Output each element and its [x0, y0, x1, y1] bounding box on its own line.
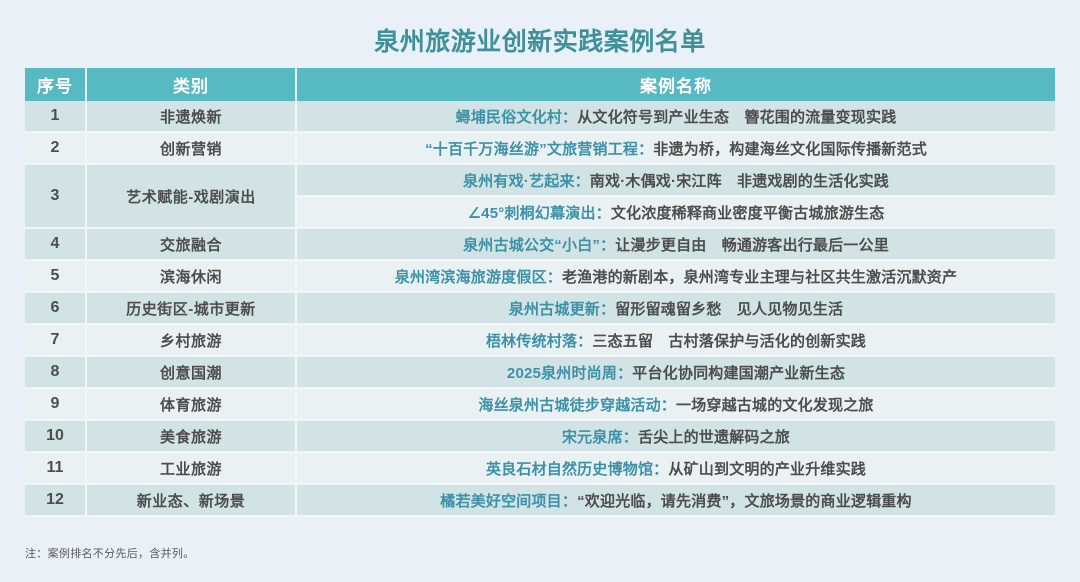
case-name-description: 从文化符号到产业生态 簪花围的流量变现实践 — [577, 109, 896, 126]
case-table-container: 序号 类别 案例名称 1非遗焕新蟳埔民俗文化村：从文化符号到产业生态 簪花围的流… — [25, 68, 1055, 517]
table-row: 6历史街区-城市更新泉州古城更新：留形留魂留乡愁 见人见物见生活 — [25, 293, 1055, 325]
page-title: 泉州旅游业创新实践案例名单 — [0, 26, 1080, 58]
table-row: 11工业旅游英良石材自然历史博物馆：从矿山到文明的产业升维实践 — [25, 453, 1055, 485]
case-name-description: 文化浓度稀释商业密度平衡古城旅游生态 — [611, 205, 885, 222]
table-row: 5滨海休闲泉州湾滨海旅游度假区：老渔港的新剧本，泉州湾专业主理与社区共生激活沉默… — [25, 261, 1055, 293]
cell-index: 3 — [25, 165, 87, 229]
case-name-description: 让漫步更自由 畅通游客出行最后一公里 — [615, 237, 889, 254]
cell-index: 1 — [25, 101, 87, 133]
cell-category: 体育旅游 — [87, 389, 297, 421]
table-row: 12新业态、新场景橘若美好空间项目：“欢迎光临，请先消费”，文旅场景的商业逻辑重… — [25, 485, 1055, 517]
table-body: 1非遗焕新蟳埔民俗文化村：从文化符号到产业生态 簪花围的流量变现实践2创新营销“… — [25, 101, 1055, 517]
cell-case-name: ∠45°刺桐幻幕演出：文化浓度稀释商业密度平衡古城旅游生态 — [297, 197, 1055, 229]
case-name-highlight: 泉州有戏·艺起来： — [463, 173, 590, 190]
table-row: 1非遗焕新蟳埔民俗文化村：从文化符号到产业生态 簪花围的流量变现实践 — [25, 101, 1055, 133]
cell-index: 10 — [25, 421, 87, 453]
footnote: 注：案例排名不分先后，含并列。 — [25, 545, 195, 561]
case-name-highlight: 橘若美好空间项目： — [440, 493, 577, 510]
case-name-highlight: ∠45°刺桐幻幕演出： — [468, 205, 611, 222]
cell-case-name: 泉州古城更新：留形留魂留乡愁 见人见物见生活 — [297, 293, 1055, 325]
case-name-description: 三态五留 古村落保护与活化的创新实践 — [592, 333, 866, 350]
cell-category: 非遗焕新 — [87, 101, 297, 133]
cell-category: 创意国潮 — [87, 357, 297, 389]
case-name-highlight: 泉州古城公交“小白”： — [463, 237, 615, 254]
case-name-description: 舌尖上的世遗解码之旅 — [638, 429, 790, 446]
case-name-highlight: 海丝泉州古城徒步穿越活动： — [478, 397, 676, 414]
cell-category: 乡村旅游 — [87, 325, 297, 357]
cell-case-name: 蟳埔民俗文化村：从文化符号到产业生态 簪花围的流量变现实践 — [297, 101, 1055, 133]
cell-case-name: 2025泉州时尚周：平台化协同构建国潮产业新生态 — [297, 357, 1055, 389]
cell-index: 4 — [25, 229, 87, 261]
cell-case-name: 橘若美好空间项目：“欢迎光临，请先消费”，文旅场景的商业逻辑重构 — [297, 485, 1055, 517]
case-table: 序号 类别 案例名称 1非遗焕新蟳埔民俗文化村：从文化符号到产业生态 簪花围的流… — [25, 68, 1055, 517]
table-row: 10美食旅游宋元泉席：舌尖上的世遗解码之旅 — [25, 421, 1055, 453]
cell-case-name: 泉州湾滨海旅游度假区：老渔港的新剧本，泉州湾专业主理与社区共生激活沉默资产 — [297, 261, 1055, 293]
cell-category: 交旅融合 — [87, 229, 297, 261]
case-name-description: 一场穿越古城的文化发现之旅 — [676, 397, 874, 414]
cell-case-name: 泉州古城公交“小白”：让漫步更自由 畅通游客出行最后一公里 — [297, 229, 1055, 261]
cell-case-name: 英良石材自然历史博物馆：从矿山到文明的产业升维实践 — [297, 453, 1055, 485]
column-header-index: 序号 — [25, 68, 87, 101]
case-name-highlight: 蟳埔民俗文化村： — [456, 109, 578, 126]
cell-index: 12 — [25, 485, 87, 517]
cell-case-name: 梧林传统村落：三态五留 古村落保护与活化的创新实践 — [297, 325, 1055, 357]
cell-index: 2 — [25, 133, 87, 165]
column-header-category: 类别 — [87, 68, 297, 101]
cell-case-name: 宋元泉席：舌尖上的世遗解码之旅 — [297, 421, 1055, 453]
cell-case-name: “十百千万海丝游”文旅营销工程：非遗为桥，构建海丝文化国际传播新范式 — [297, 133, 1055, 165]
case-name-highlight: 英良石材自然历史博物馆： — [486, 461, 668, 478]
cell-category: 新业态、新场景 — [87, 485, 297, 517]
case-name-highlight: 泉州古城更新： — [509, 301, 615, 318]
case-name-highlight: 泉州湾滨海旅游度假区： — [395, 269, 562, 286]
table-row: 8创意国潮2025泉州时尚周：平台化协同构建国潮产业新生态 — [25, 357, 1055, 389]
cell-case-name: 泉州有戏·艺起来：南戏·木偶戏·宋江阵 非遗戏剧的生活化实践 — [297, 165, 1055, 197]
cell-category: 历史街区-城市更新 — [87, 293, 297, 325]
cell-category: 滨海休闲 — [87, 261, 297, 293]
cell-category: 艺术赋能-戏剧演出 — [87, 165, 297, 229]
case-name-highlight: 宋元泉席： — [562, 429, 638, 446]
table-row: 2创新营销“十百千万海丝游”文旅营销工程：非遗为桥，构建海丝文化国际传播新范式 — [25, 133, 1055, 165]
cell-index: 7 — [25, 325, 87, 357]
column-header-case-name: 案例名称 — [297, 68, 1055, 101]
case-name-highlight: 梧林传统村落： — [486, 333, 592, 350]
cell-category: 美食旅游 — [87, 421, 297, 453]
case-name-description: “欢迎光临，请先消费”，文旅场景的商业逻辑重构 — [577, 493, 912, 510]
table-header-row: 序号 类别 案例名称 — [25, 68, 1055, 101]
case-name-description: 老渔港的新剧本，泉州湾专业主理与社区共生激活沉默资产 — [562, 269, 957, 286]
case-name-description: 非遗为桥，构建海丝文化国际传播新范式 — [653, 141, 927, 158]
case-name-description: 从矿山到文明的产业升维实践 — [668, 461, 866, 478]
cell-index: 9 — [25, 389, 87, 421]
case-name-description: 南戏·木偶戏·宋江阵 非遗戏剧的生活化实践 — [590, 173, 889, 190]
cell-category: 创新营销 — [87, 133, 297, 165]
cell-index: 11 — [25, 453, 87, 485]
cell-case-name: 海丝泉州古城徒步穿越活动：一场穿越古城的文化发现之旅 — [297, 389, 1055, 421]
table-row: 9体育旅游海丝泉州古城徒步穿越活动：一场穿越古城的文化发现之旅 — [25, 389, 1055, 421]
table-row: 7乡村旅游梧林传统村落：三态五留 古村落保护与活化的创新实践 — [25, 325, 1055, 357]
case-name-highlight: 2025泉州时尚周： — [507, 365, 632, 382]
table-header: 序号 类别 案例名称 — [25, 68, 1055, 101]
case-name-description: 平台化协同构建国潮产业新生态 — [632, 365, 845, 382]
slide-page: 泉州旅游业创新实践案例名单 序号 类别 案例名称 1非遗焕新蟳埔民俗文化村：从文… — [0, 0, 1080, 582]
cell-category: 工业旅游 — [87, 453, 297, 485]
cell-index: 8 — [25, 357, 87, 389]
cell-index: 6 — [25, 293, 87, 325]
cell-index: 5 — [25, 261, 87, 293]
case-name-description: 留形留魂留乡愁 见人见物见生活 — [615, 301, 843, 318]
table-row: 4交旅融合泉州古城公交“小白”：让漫步更自由 畅通游客出行最后一公里 — [25, 229, 1055, 261]
table-row: 3艺术赋能-戏剧演出泉州有戏·艺起来：南戏·木偶戏·宋江阵 非遗戏剧的生活化实践 — [25, 165, 1055, 197]
case-name-highlight: “十百千万海丝游”文旅营销工程： — [425, 141, 653, 158]
